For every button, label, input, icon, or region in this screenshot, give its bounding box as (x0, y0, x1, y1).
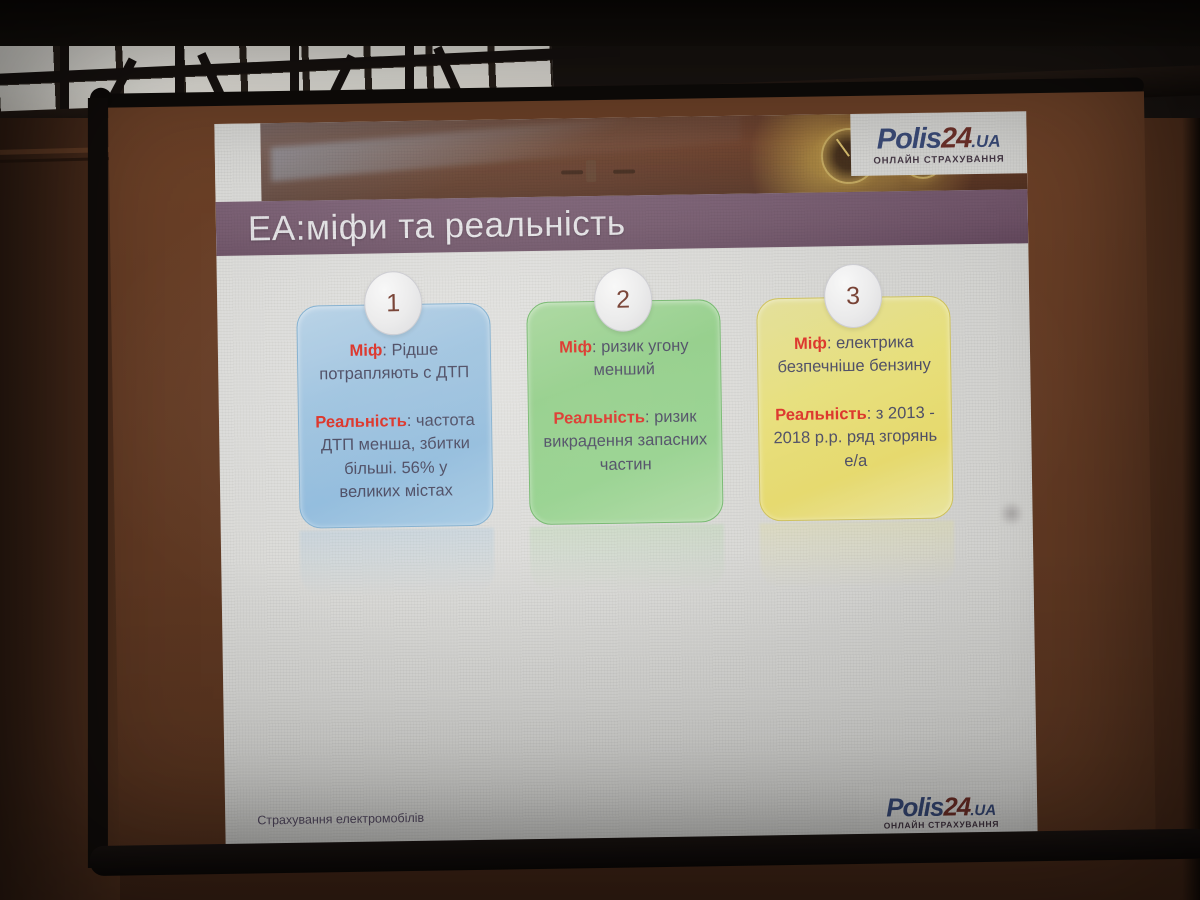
gauge-needle-icon (836, 139, 850, 157)
logo-part-polis: Polis (876, 122, 941, 155)
wall-shadow-right (1182, 118, 1200, 900)
myth-label-3: Міф (794, 334, 827, 353)
footer-logo-tagline: ОНЛАЙН СТРАХУВАННЯ (884, 819, 1000, 831)
myth-line-3: Міф: електрика безпечніше бензину (770, 331, 939, 380)
card-reflection-3 (760, 520, 955, 589)
logo-part-24: 24 (941, 122, 972, 154)
myth-line-2: Міф: ризик угону менший (540, 334, 709, 383)
myth-label-2: Міф (559, 338, 592, 357)
slide-header-banner: Polis24.UA ОНЛАЙН СТРАХУВАННЯ (260, 111, 1027, 201)
myth-block-3: Міф: електрика безпечніше бензину (770, 331, 939, 380)
card-reflection-1 (300, 528, 495, 597)
header-logo-tagline: ОНЛАЙН СТРАХУВАННЯ (873, 153, 1004, 166)
dashboard-vent-icon (561, 170, 583, 174)
card-column-1: 1 Міф: Рідше потрапляють с ДТП Реальніст… (296, 270, 497, 743)
screen-surface: Polis24.UA ОНЛАЙН СТРАХУВАННЯ ЕА:міфи та… (108, 91, 1156, 859)
myth-text-1: : Рідше потрапляють с ДТП (319, 341, 469, 384)
header-logo: Polis24.UA ОНЛАЙН СТРАХУВАННЯ (850, 111, 1027, 176)
myth-line-1: Міф: Рідше потрапляють с ДТП (310, 338, 479, 387)
myth-card-2[interactable]: Міф: ризик угону менший Реальність: ризи… (526, 299, 723, 525)
reality-block-1: Реальність: частота ДТП менша, збитки бі… (311, 409, 480, 505)
myth-block-2: Міф: ризик угону менший (540, 334, 709, 383)
footer-logo-wordmark: Polis24.UA (886, 793, 996, 821)
reality-label-1: Реальність (315, 412, 407, 431)
projector-screen: Polis24.UA ОНЛАЙН СТРАХУВАННЯ ЕА:міфи та… (88, 87, 1160, 864)
screen-side-pole (88, 98, 108, 868)
myth-block-1: Міф: Рідше потрапляють с ДТП (310, 338, 479, 387)
logo-part-24: 24 (943, 791, 970, 821)
logo-part-polis: Polis (886, 792, 944, 823)
slide-left-margin (214, 123, 261, 202)
page-title: ЕА:міфи та реальність (248, 205, 626, 246)
myth-text-2: : ризик угону менший (592, 337, 689, 380)
card-reflection-2 (530, 524, 725, 593)
card-column-2: 2 Міф: ризик угону менший Реальність: ри… (526, 266, 727, 739)
cards-row: 1 Міф: Рідше потрапляють с ДТП Реальніст… (217, 261, 1036, 744)
slide-footer-text: Страхування електромобілів (257, 811, 424, 828)
logo-part-ua: .UA (970, 802, 996, 819)
ceiling-dark-cap (0, 0, 1200, 46)
myth-card-1[interactable]: Міф: Рідше потрапляють с ДТП Реальність:… (296, 303, 493, 529)
presentation-slide: Polis24.UA ОНЛАЙН СТРАХУВАННЯ ЕА:міфи та… (214, 111, 1038, 859)
photo-scene: Polis24.UA ОНЛАЙН СТРАХУВАННЯ ЕА:міфи та… (0, 0, 1200, 900)
dashboard-vent-icon (613, 169, 635, 173)
reality-line-1: Реальність: частота ДТП менша, збитки бі… (311, 409, 480, 505)
reality-block-3: Реальність: з 2013 - 2018 р.р. ряд згоря… (771, 402, 940, 475)
logo-part-ua: .UA (971, 131, 1001, 150)
myth-label-1: Міф (349, 341, 382, 360)
reality-label-3: Реальність (775, 405, 867, 424)
card-column-3: 3 Міф: електрика безпечніше бензину Реал… (756, 262, 957, 735)
slide-title-bar: ЕА:міфи та реальність (216, 189, 1029, 256)
reality-block-2: Реальність: ризик викрадення запасних ча… (541, 405, 710, 478)
dashboard-console-icon (586, 160, 596, 182)
reality-line-2: Реальність: ризик викрадення запасних ча… (541, 405, 710, 478)
reality-label-2: Реальність (553, 408, 645, 427)
myth-card-3[interactable]: Міф: електрика безпечніше бензину Реальн… (756, 295, 953, 521)
windshield-sheen (271, 111, 741, 181)
reality-line-3: Реальність: з 2013 - 2018 р.р. ряд згоря… (771, 402, 940, 475)
header-logo-wordmark: Polis24.UA (876, 123, 1000, 154)
